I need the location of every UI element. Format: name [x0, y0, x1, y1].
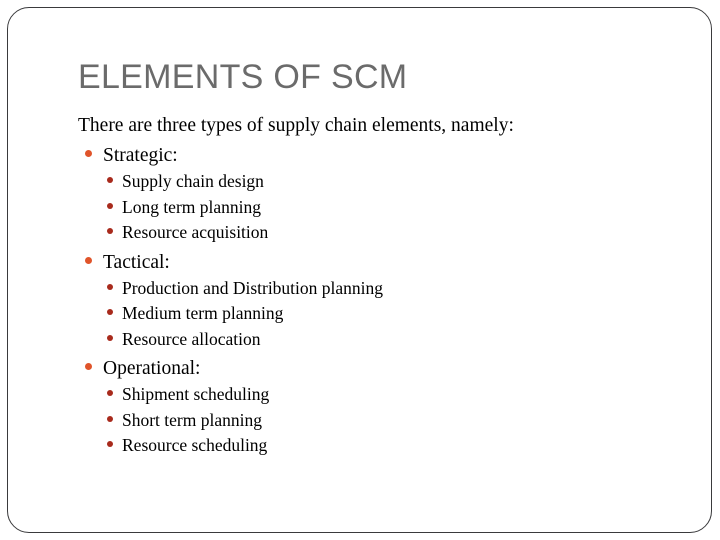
- slide-content-body: There are three types of supply chain el…: [78, 112, 678, 459]
- bullet-group-strategic: Strategic: Supply chain design Long term…: [78, 142, 678, 246]
- list-item: Operational:: [78, 355, 678, 382]
- list-item: Resource allocation: [78, 327, 678, 353]
- list-item: Long term planning: [78, 195, 678, 221]
- intro-paragraph: There are three types of supply chain el…: [78, 112, 678, 139]
- bullet-level2-label: Production and Distribution planning: [122, 276, 383, 302]
- sub-bullet-list: Supply chain design Long term planning R…: [78, 169, 678, 246]
- list-item: Resource scheduling: [78, 433, 678, 459]
- bullet-dot-icon: [107, 390, 113, 396]
- bullet-dot-icon: [107, 441, 113, 447]
- bullet-group-tactical: Tactical: Production and Distribution pl…: [78, 249, 678, 353]
- page-title: ELEMENTS OF SCM: [78, 56, 407, 98]
- bullet-level2-label: Long term planning: [122, 195, 261, 221]
- bullet-level1-label: Tactical:: [103, 249, 170, 276]
- bullet-level1-label: Operational:: [103, 355, 200, 382]
- list-item: Shipment scheduling: [78, 382, 678, 408]
- bullet-dot-icon: [107, 416, 113, 422]
- bullet-dot-icon: [85, 150, 92, 157]
- bullet-group-operational: Operational: Shipment scheduling Short t…: [78, 355, 678, 459]
- bullet-level2-label: Resource acquisition: [122, 220, 268, 246]
- bullet-dot-icon: [85, 257, 92, 264]
- bullet-dot-icon: [107, 177, 113, 183]
- bullet-level2-label: Short term planning: [122, 408, 262, 434]
- list-item: Resource acquisition: [78, 220, 678, 246]
- list-item: Production and Distribution planning: [78, 276, 678, 302]
- list-item: Strategic:: [78, 142, 678, 169]
- bullet-level2-label: Supply chain design: [122, 169, 264, 195]
- bullet-level2-label: Resource allocation: [122, 327, 261, 353]
- list-item: Supply chain design: [78, 169, 678, 195]
- bullet-dot-icon: [107, 309, 113, 315]
- sub-bullet-list: Production and Distribution planning Med…: [78, 276, 678, 353]
- sub-bullet-list: Shipment scheduling Short term planning …: [78, 382, 678, 459]
- list-item: Medium term planning: [78, 301, 678, 327]
- bullet-dot-icon: [107, 335, 113, 341]
- bullet-dot-icon: [107, 203, 113, 209]
- bullet-dot-icon: [85, 363, 92, 370]
- bullet-level2-label: Medium term planning: [122, 301, 283, 327]
- bullet-level2-label: Shipment scheduling: [122, 382, 269, 408]
- bullet-dot-icon: [107, 228, 113, 234]
- list-item: Tactical:: [78, 249, 678, 276]
- bullet-dot-icon: [107, 284, 113, 290]
- presentation-slide: ELEMENTS OF SCM There are three types of…: [0, 0, 720, 540]
- list-item: Short term planning: [78, 408, 678, 434]
- bullet-level1-label: Strategic:: [103, 142, 178, 169]
- bullet-level2-label: Resource scheduling: [122, 433, 267, 459]
